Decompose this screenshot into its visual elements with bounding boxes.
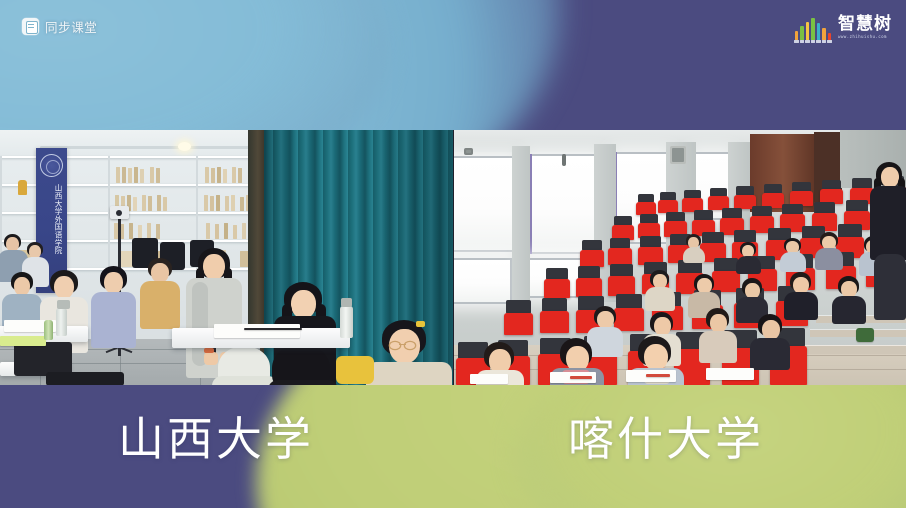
speaker bbox=[670, 146, 686, 164]
sync-classroom-label: 同步课堂 bbox=[45, 17, 97, 36]
aisle-step bbox=[804, 346, 906, 354]
water-bottle bbox=[44, 320, 53, 340]
window bbox=[453, 156, 514, 252]
book-marker bbox=[570, 376, 592, 379]
caption-right-university: 喀什大学 bbox=[568, 413, 764, 465]
thermos-cap bbox=[341, 298, 352, 307]
thermos bbox=[340, 306, 353, 338]
window bbox=[453, 258, 512, 304]
zhihuishu-wordmark: 智慧树 www.zhihuishu.com bbox=[838, 15, 892, 40]
zhihuishu-bars-icon bbox=[795, 18, 831, 40]
sync-classroom-icon bbox=[22, 18, 39, 35]
thermos-cap bbox=[57, 300, 70, 309]
ceiling-rail bbox=[40, 146, 270, 149]
backpack bbox=[856, 328, 874, 342]
notebook bbox=[214, 324, 300, 338]
zhihuishu-url: www.zhihuishu.com bbox=[838, 34, 887, 40]
header-bar: 同步课堂 智慧树 www.zhihuishu.com bbox=[0, 0, 906, 130]
book-marker bbox=[646, 374, 670, 377]
yellow-jacket bbox=[336, 356, 374, 384]
open-notebook bbox=[470, 374, 508, 384]
highlighter-pad bbox=[0, 336, 46, 346]
video-strip: 山西大学外国语学院 bbox=[0, 130, 906, 385]
chair bbox=[14, 342, 72, 376]
open-notebook bbox=[706, 368, 754, 380]
zhihuishu-brand[interactable]: 智慧树 www.zhihuishu.com bbox=[795, 15, 892, 40]
university-seal-icon bbox=[40, 154, 63, 177]
window bbox=[528, 154, 598, 254]
thermos bbox=[56, 308, 67, 336]
pillar bbox=[512, 146, 530, 306]
wall-sensor bbox=[562, 154, 566, 166]
video-feed-shanxi-university[interactable]: 山西大学外国语学院 bbox=[0, 130, 453, 385]
wall-sensor bbox=[464, 148, 473, 155]
caption-left-university: 山西大学 bbox=[118, 413, 314, 465]
pen bbox=[244, 328, 302, 330]
camera-icon bbox=[110, 206, 129, 219]
zhihuishu-name: 智慧树 bbox=[838, 15, 892, 33]
sync-classroom-brand[interactable]: 同步课堂 bbox=[22, 17, 97, 36]
chair bbox=[46, 372, 124, 385]
video-feed-kashgar-university[interactable] bbox=[453, 130, 906, 385]
trophy bbox=[18, 180, 27, 195]
broadcast-stage: 同步课堂 智慧树 www.zhihuishu.com bbox=[0, 0, 906, 508]
